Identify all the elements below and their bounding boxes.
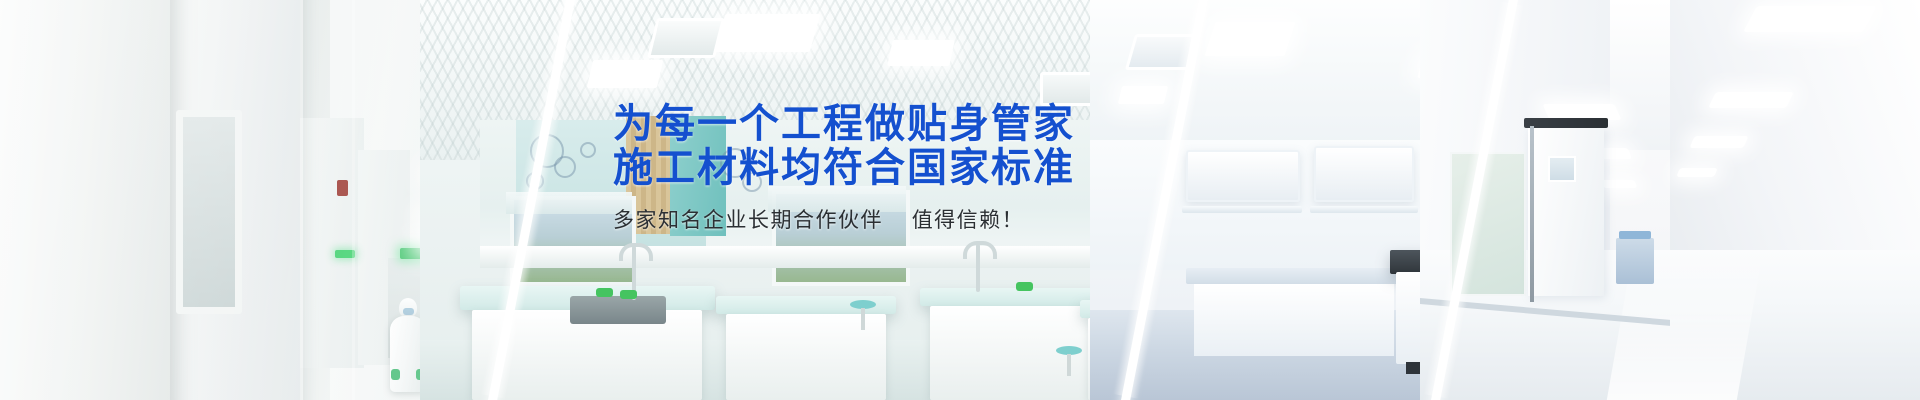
bench-sink [570, 296, 666, 324]
ceiling-light-strip [1708, 92, 1794, 108]
lab-stool [850, 300, 876, 309]
molecule-graphic-icon [554, 156, 576, 178]
lab-bench [1186, 268, 1401, 284]
ceiling-light-strip [1689, 136, 1748, 148]
bench-faucet-icon [976, 244, 980, 292]
ceiling-light-strip [1601, 180, 1638, 188]
lab-stool [1056, 346, 1082, 355]
ceiling-light-panel [1204, 22, 1295, 56]
wall-shelf [1310, 206, 1418, 213]
ceiling-light-panel [587, 60, 663, 88]
banner-copy: 为每一个工程做贴身管家 施工材料均符合国家标准 多家知名企业长期合作伙伴 值得信… [613, 102, 1313, 234]
ceiling-light-panel [887, 40, 955, 66]
ceiling-ac-vent-icon [647, 18, 725, 58]
wall-cabinet [1314, 146, 1414, 202]
gas-tap-icon [596, 288, 613, 297]
lab-bench [920, 288, 1105, 306]
sliding-door-post [1530, 126, 1534, 302]
door-view-window [1548, 156, 1576, 182]
headline-line-1: 为每一个工程做贴身管家 [613, 102, 1075, 146]
light-streak [300, 0, 303, 400]
banner-headline: 为每一个工程做贴身管家 施工材料均符合国家标准 [613, 102, 1313, 190]
hero-banner: 为每一个工程做贴身管家 施工材料均符合国家标准 多家知名企业长期合作伙伴 值得信… [0, 0, 1920, 400]
ceiling-light-panel [715, 14, 821, 52]
medical-cart [1616, 238, 1654, 284]
light-streak [352, 0, 355, 400]
molecule-graphic-icon [580, 142, 596, 158]
panel-hospital-corridor [1420, 0, 1920, 400]
lab-bench-base [1194, 284, 1394, 356]
subtitle-part-2: 值得信赖！ [912, 209, 1025, 232]
sliding-door-rail [1524, 118, 1608, 128]
banner-subtitle: 多家知名企业长期合作伙伴 值得信赖！ [613, 204, 1313, 234]
ceiling-light-strip [1676, 168, 1718, 177]
subtitle-part-1: 多家知名企业长期合作伙伴 [613, 209, 883, 232]
headline-line-2: 施工材料均符合国家标准 [613, 146, 1313, 190]
ceiling-light-strip [1743, 6, 1877, 32]
hospital-sliding-door [1528, 128, 1604, 296]
gas-tap-icon [620, 290, 637, 299]
gas-tap-icon [1016, 282, 1033, 291]
